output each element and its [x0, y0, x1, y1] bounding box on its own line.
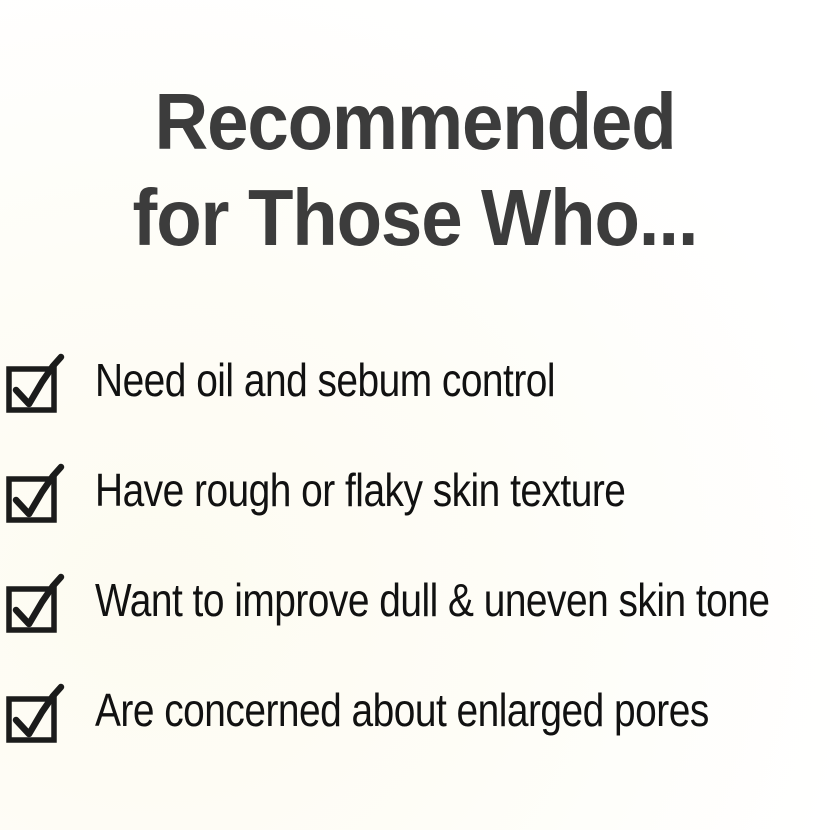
list-item-label: Are concerned about enlarged pores — [95, 684, 709, 736]
list-item: Are concerned about enlarged pores — [0, 678, 830, 788]
page-title-line-2: for Those Who... — [29, 170, 801, 266]
list-item: Need oil and sebum control — [0, 348, 830, 458]
checked-checkbox-icon — [4, 354, 66, 410]
list-item-label: Need oil and sebum control — [95, 354, 555, 406]
recommendation-checklist: Need oil and sebum control Have rough or… — [0, 348, 830, 788]
list-item-label: Want to improve dull & uneven skin tone — [95, 574, 770, 626]
list-item: Want to improve dull & uneven skin tone — [0, 568, 830, 678]
list-item: Have rough or flaky skin texture — [0, 458, 830, 568]
checked-checkbox-icon — [4, 464, 66, 520]
checked-checkbox-icon — [4, 574, 66, 630]
list-item-label: Have rough or flaky skin texture — [95, 464, 625, 516]
recommendation-poster: Recommended for Those Who... Need oil an… — [0, 0, 830, 830]
page-title: Recommended for Those Who... — [29, 74, 801, 266]
page-title-line-1: Recommended — [29, 74, 801, 170]
checked-checkbox-icon — [4, 684, 66, 740]
